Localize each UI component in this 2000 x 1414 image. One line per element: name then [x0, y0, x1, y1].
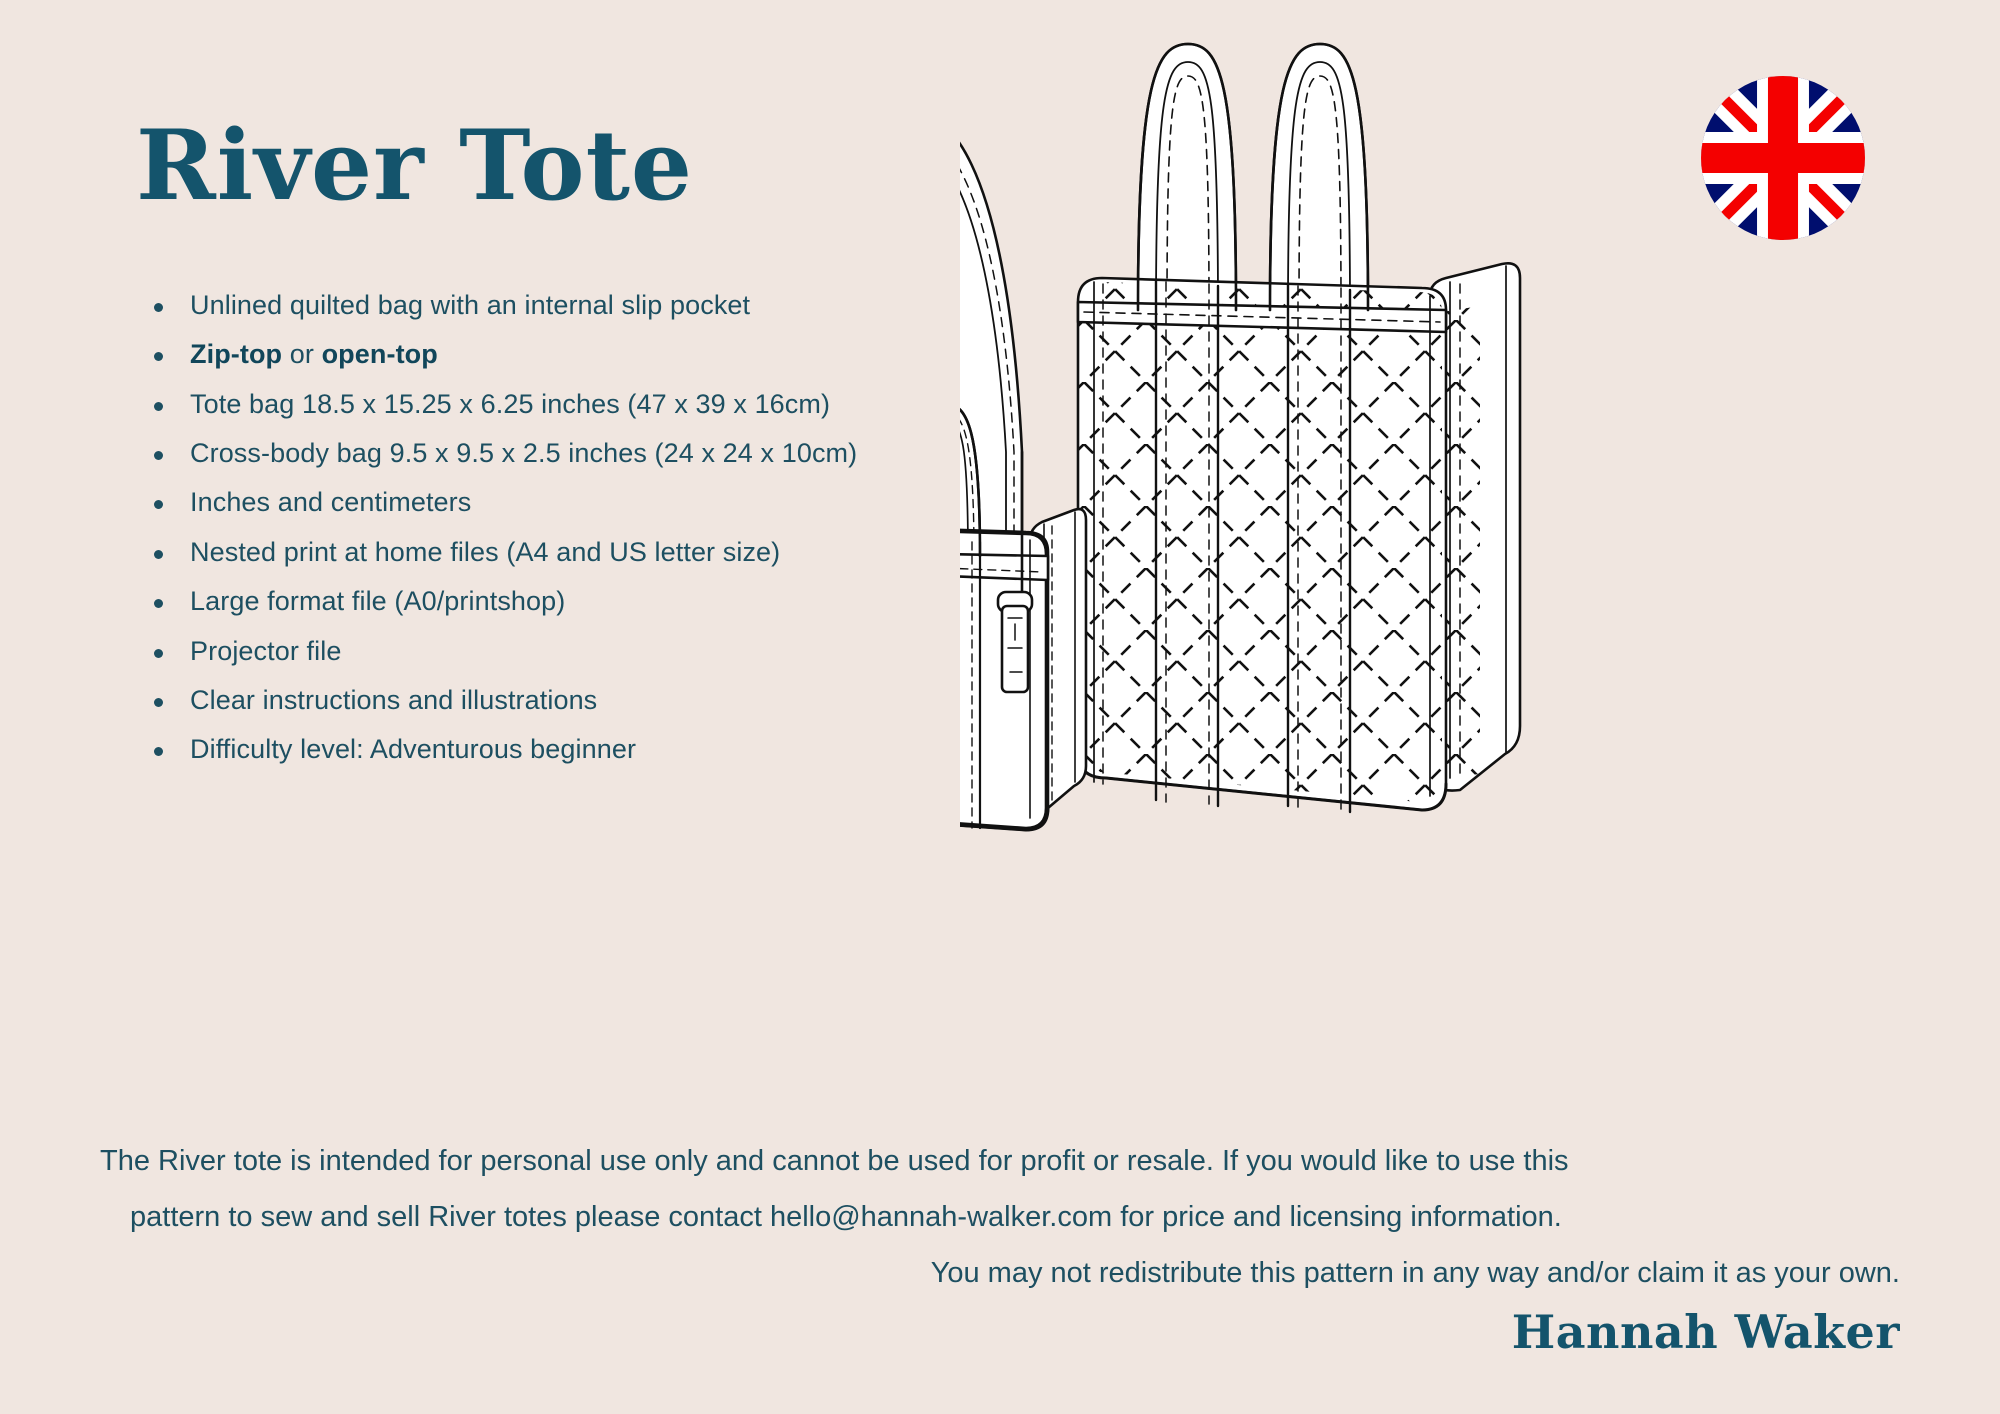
list-item: Projector file — [150, 636, 1010, 668]
footer-line-3: You may not redistribute this pattern in… — [100, 1252, 1900, 1294]
list-item: Large format file (A0/printshop) — [150, 586, 1010, 618]
tote-bag — [1070, 44, 1526, 820]
list-item: Zip-top or open-top — [150, 339, 1010, 371]
list-item: Cross-body bag 9.5 x 9.5 x 2.5 inches (2… — [150, 438, 1010, 470]
quilted-tote-bags-illustration — [960, 10, 1990, 1070]
list-item-label: Inches and centimeters — [190, 487, 471, 517]
pattern-cover-page: River Tote Unlined quilted bag with an i… — [0, 0, 2000, 1414]
list-item: Difficulty level: Adventurous beginner — [150, 734, 1010, 766]
list-item: Tote bag 18.5 x 15.25 x 6.25 inches (47 … — [150, 389, 1010, 421]
footer: The River tote is intended for personal … — [100, 1140, 1900, 1308]
list-item: Inches and centimeters — [150, 487, 1010, 519]
list-item: Nested print at home files (A4 and US le… — [150, 537, 1010, 569]
bullet-dot-icon — [154, 451, 163, 460]
page-title: River Tote — [136, 118, 693, 214]
list-item-label: Large format file (A0/printshop) — [190, 586, 565, 616]
list-item-label: Clear instructions and illustrations — [190, 685, 597, 715]
list-item-label-plain: or — [282, 339, 321, 369]
feature-list: Unlined quilted bag with an internal sli… — [150, 290, 1010, 784]
list-item-label-bold-b: open-top — [322, 339, 438, 369]
list-item-label: Difficulty level: Adventurous beginner — [190, 734, 636, 764]
bullet-dot-icon — [154, 500, 163, 509]
bullet-dot-icon — [154, 599, 163, 608]
zip-pull-icon — [998, 592, 1032, 692]
bullet-dot-icon — [154, 352, 163, 361]
bullet-dot-icon — [154, 649, 163, 658]
list-item-label: Cross-body bag 9.5 x 9.5 x 2.5 inches (2… — [190, 438, 857, 468]
bullet-dot-icon — [154, 747, 163, 756]
list-item: Unlined quilted bag with an internal sli… — [150, 290, 1010, 322]
bullet-dot-icon — [154, 550, 163, 559]
footer-line-1: The River tote is intended for personal … — [100, 1140, 1900, 1182]
list-item-label: Nested print at home files (A4 and US le… — [190, 537, 780, 567]
list-item: Clear instructions and illustrations — [150, 685, 1010, 717]
bullet-dot-icon — [154, 402, 163, 411]
list-item-label: Projector file — [190, 636, 341, 666]
author-signature: Hannah Waker — [1512, 1305, 1900, 1359]
bullet-dot-icon — [154, 303, 163, 312]
list-item-label-bold-a: Zip-top — [190, 339, 282, 369]
bullet-dot-icon — [154, 698, 163, 707]
list-item-label: Unlined quilted bag with an internal sli… — [190, 290, 750, 320]
list-item-label: Tote bag 18.5 x 15.25 x 6.25 inches (47 … — [190, 389, 830, 419]
footer-line-2: pattern to sew and sell River totes plea… — [100, 1196, 1900, 1238]
